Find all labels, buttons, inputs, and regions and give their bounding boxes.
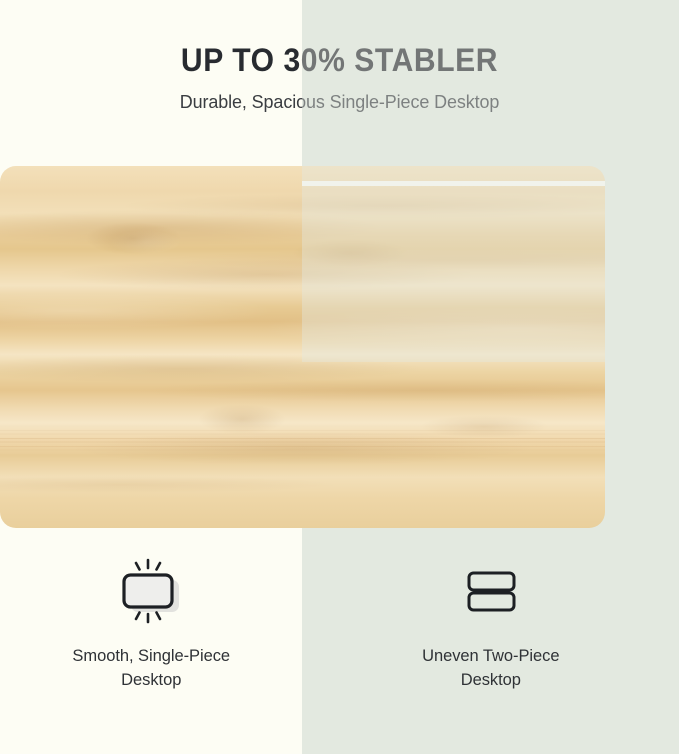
- comparison-row: Smooth, Single-Piece Desktop Uneven Two-…: [0, 556, 679, 716]
- two-piece-desktop-icon: [447, 556, 535, 628]
- caption-line-2: Desktop: [121, 670, 181, 689]
- caption-line-1: Smooth, Single-Piece: [72, 646, 230, 665]
- comparison-column-left: Smooth, Single-Piece Desktop: [0, 556, 302, 716]
- comparison-tint-overlay: [302, 0, 605, 362]
- single-piece-desktop-sparkle-icon: [107, 556, 195, 628]
- comparison-caption-right: Uneven Two-Piece Desktop: [422, 628, 559, 692]
- caption-line-1: Uneven Two-Piece: [422, 646, 559, 665]
- infographic-canvas: UP TO 30% STABLER Durable, Spacious Sing…: [0, 0, 679, 754]
- comparison-column-right: Uneven Two-Piece Desktop: [302, 556, 679, 716]
- caption-line-2: Desktop: [460, 670, 520, 689]
- comparison-caption-left: Smooth, Single-Piece Desktop: [72, 628, 230, 692]
